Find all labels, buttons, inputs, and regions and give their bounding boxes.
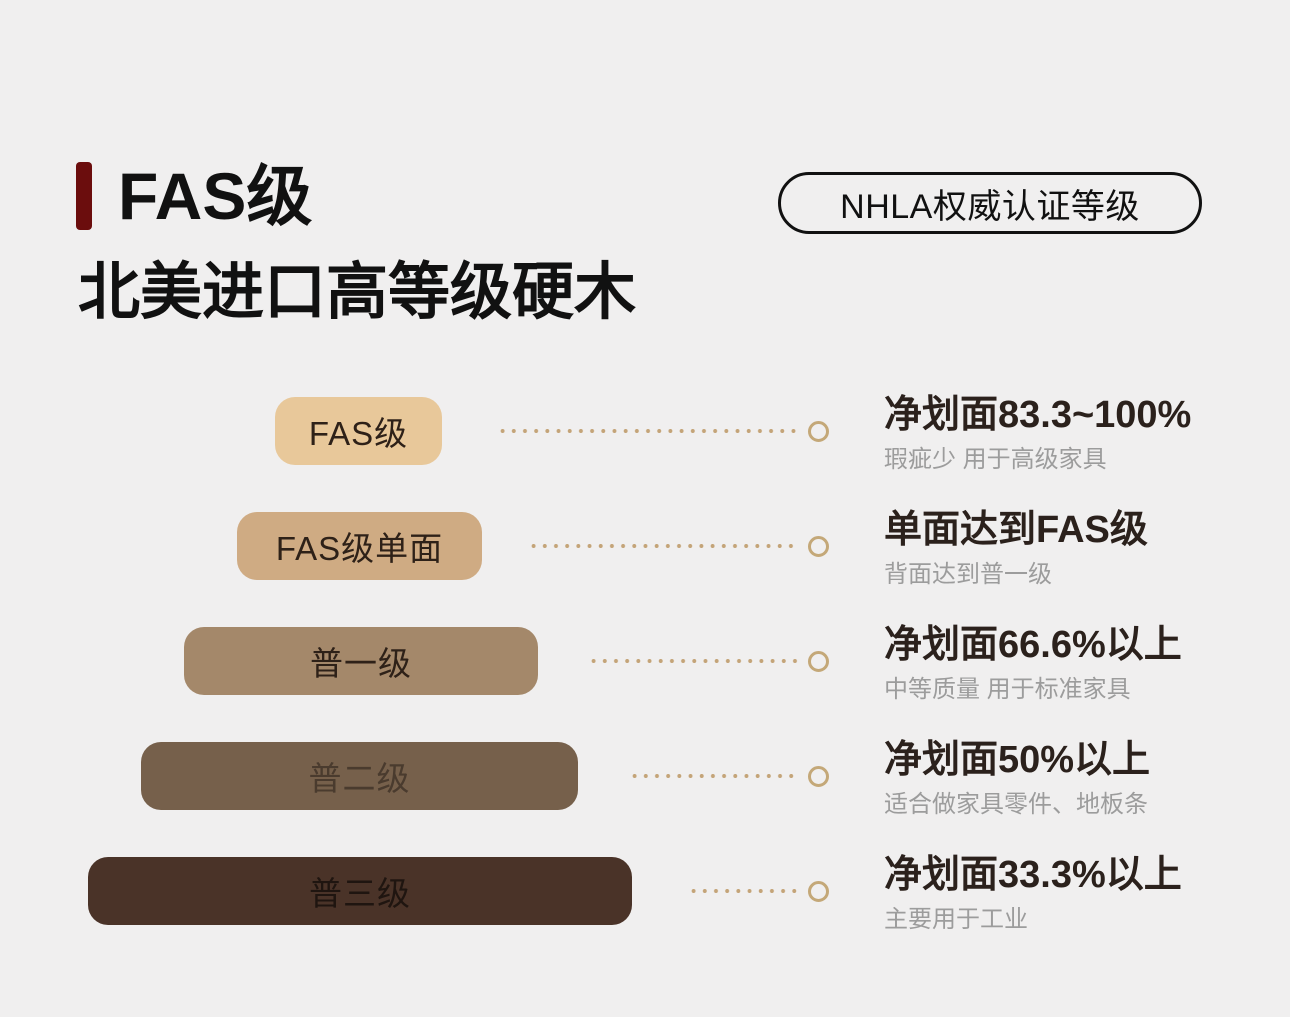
connector-line (497, 420, 829, 442)
grade-info-title: 净划面33.3%以上 (884, 856, 1284, 894)
grade-info-subtitle: 适合做家具零件、地板条 (884, 793, 1284, 817)
grade-info: 净划面33.3%以上 主要用于工业 (884, 848, 1284, 932)
grade-info-title: 净划面66.6%以上 (884, 626, 1284, 664)
grade-bar-label: 普一级 (310, 637, 412, 685)
dotted-line-icon (528, 544, 799, 548)
connector-line (629, 765, 829, 787)
dotted-line-icon (588, 659, 799, 663)
grade-bar-label: FAS级单面 (276, 522, 443, 570)
grade-bar-label: 普三级 (309, 867, 411, 915)
endpoint-circle-icon (808, 536, 829, 557)
grade-info: 净划面50%以上 适合做家具零件、地板条 (884, 733, 1284, 817)
grade-info-title: 净划面83.3~100% (884, 396, 1284, 434)
grade-row: 普一级 净划面66.6%以上 中等质量 用于标准家具 (0, 618, 1290, 733)
endpoint-circle-icon (808, 766, 829, 787)
grade-bar-label: 普二级 (309, 752, 411, 800)
grade-info-subtitle: 中等质量 用于标准家具 (884, 678, 1284, 702)
certification-badge: NHLA权威认证等级 (778, 172, 1202, 234)
grade-info: 净划面83.3~100% 瑕疵少 用于高级家具 (884, 388, 1284, 472)
connector-line (688, 880, 829, 902)
infographic-page: FAS级 北美进口高等级硬木 NHLA权威认证等级 FAS级 净划面83.3~1… (0, 0, 1290, 1017)
certification-badge-label: NHLA权威认证等级 (840, 179, 1140, 228)
grade-row: 普三级 净划面33.3%以上 主要用于工业 (0, 848, 1290, 963)
dotted-line-icon (629, 774, 799, 778)
grade-row: FAS级 净划面83.3~100% 瑕疵少 用于高级家具 (0, 388, 1290, 503)
grade-info-title: 单面达到FAS级 (884, 511, 1284, 549)
connector-line (528, 535, 829, 557)
endpoint-circle-icon (808, 881, 829, 902)
grade-row: 普二级 净划面50%以上 适合做家具零件、地板条 (0, 733, 1290, 848)
dotted-line-icon (688, 889, 799, 893)
grade-bar-fas-1face: FAS级单面 (237, 512, 482, 580)
grade-bar-common-2: 普二级 (141, 742, 578, 810)
grade-info-subtitle: 背面达到普一级 (884, 563, 1284, 587)
grade-info-subtitle: 瑕疵少 用于高级家具 (884, 448, 1284, 472)
page-title: FAS级 (118, 163, 312, 229)
title-primary-line: FAS级 (76, 156, 636, 236)
grade-rows: FAS级 净划面83.3~100% 瑕疵少 用于高级家具 FAS级单面 单面达到… (0, 388, 1290, 963)
endpoint-circle-icon (808, 421, 829, 442)
grade-info: 单面达到FAS级 背面达到普一级 (884, 503, 1284, 587)
grade-info-subtitle: 主要用于工业 (884, 908, 1284, 932)
connector-line (588, 650, 829, 672)
title-block: FAS级 北美进口高等级硬木 (76, 156, 636, 324)
grade-bar-label: FAS级 (309, 407, 408, 455)
grade-info: 净划面66.6%以上 中等质量 用于标准家具 (884, 618, 1284, 702)
grade-bar-common-3: 普三级 (88, 857, 632, 925)
dotted-line-icon (497, 429, 799, 433)
endpoint-circle-icon (808, 651, 829, 672)
grade-bar-common-1: 普一级 (184, 627, 538, 695)
accent-bar-icon (76, 162, 92, 230)
header: FAS级 北美进口高等级硬木 NHLA权威认证等级 (0, 0, 1290, 360)
grade-info-title: 净划面50%以上 (884, 741, 1284, 779)
grade-row: FAS级单面 单面达到FAS级 背面达到普一级 (0, 503, 1290, 618)
page-subtitle: 北美进口高等级硬木 (78, 262, 636, 324)
grade-bar-fas: FAS级 (275, 397, 442, 465)
